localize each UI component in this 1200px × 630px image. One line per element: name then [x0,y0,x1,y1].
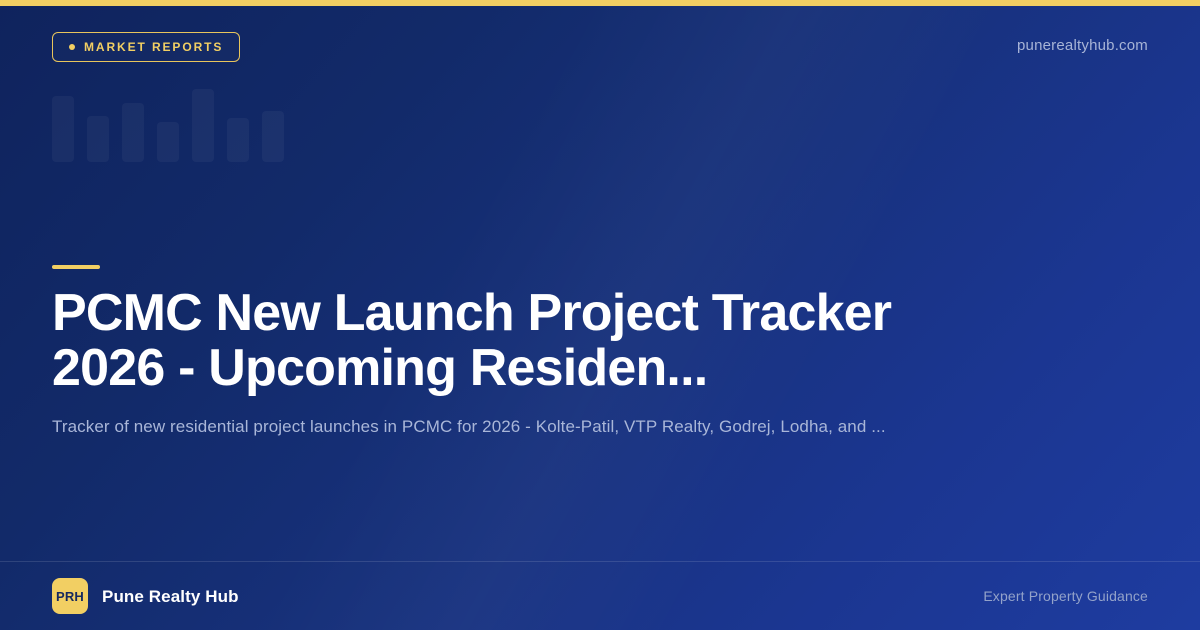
deco-bar [192,89,214,162]
footer-tagline: Expert Property Guidance [983,589,1148,603]
deco-bar [157,122,179,162]
brand-monogram-text: PRH [56,590,84,603]
deco-bar [262,111,284,162]
category-badge[interactable]: MARKET REPORTS [52,32,240,62]
brand-logo[interactable]: PRH Pune Realty Hub [52,578,239,614]
footer: PRH Pune Realty Hub Expert Property Guid… [0,562,1200,630]
site-url: punerealtyhub.com [1017,38,1148,53]
bar-chart-decoration [52,88,312,162]
page-title: PCMC New Launch Project Tracker 2026 - U… [52,286,1012,395]
deco-bar [52,96,74,162]
bullet-dot-icon [69,44,75,50]
brand-monogram-icon: PRH [52,578,88,614]
deco-bar [227,118,249,162]
brand-name: Pune Realty Hub [102,588,239,605]
deco-bar [87,116,109,162]
page-description: Tracker of new residential project launc… [52,415,1062,440]
og-card: MARKET REPORTS punerealtyhub.com PCMC Ne… [0,0,1200,630]
category-badge-label: MARKET REPORTS [84,41,223,53]
deco-bar [122,103,144,162]
gold-top-strip [0,0,1200,6]
gold-accent-rule [52,265,100,269]
